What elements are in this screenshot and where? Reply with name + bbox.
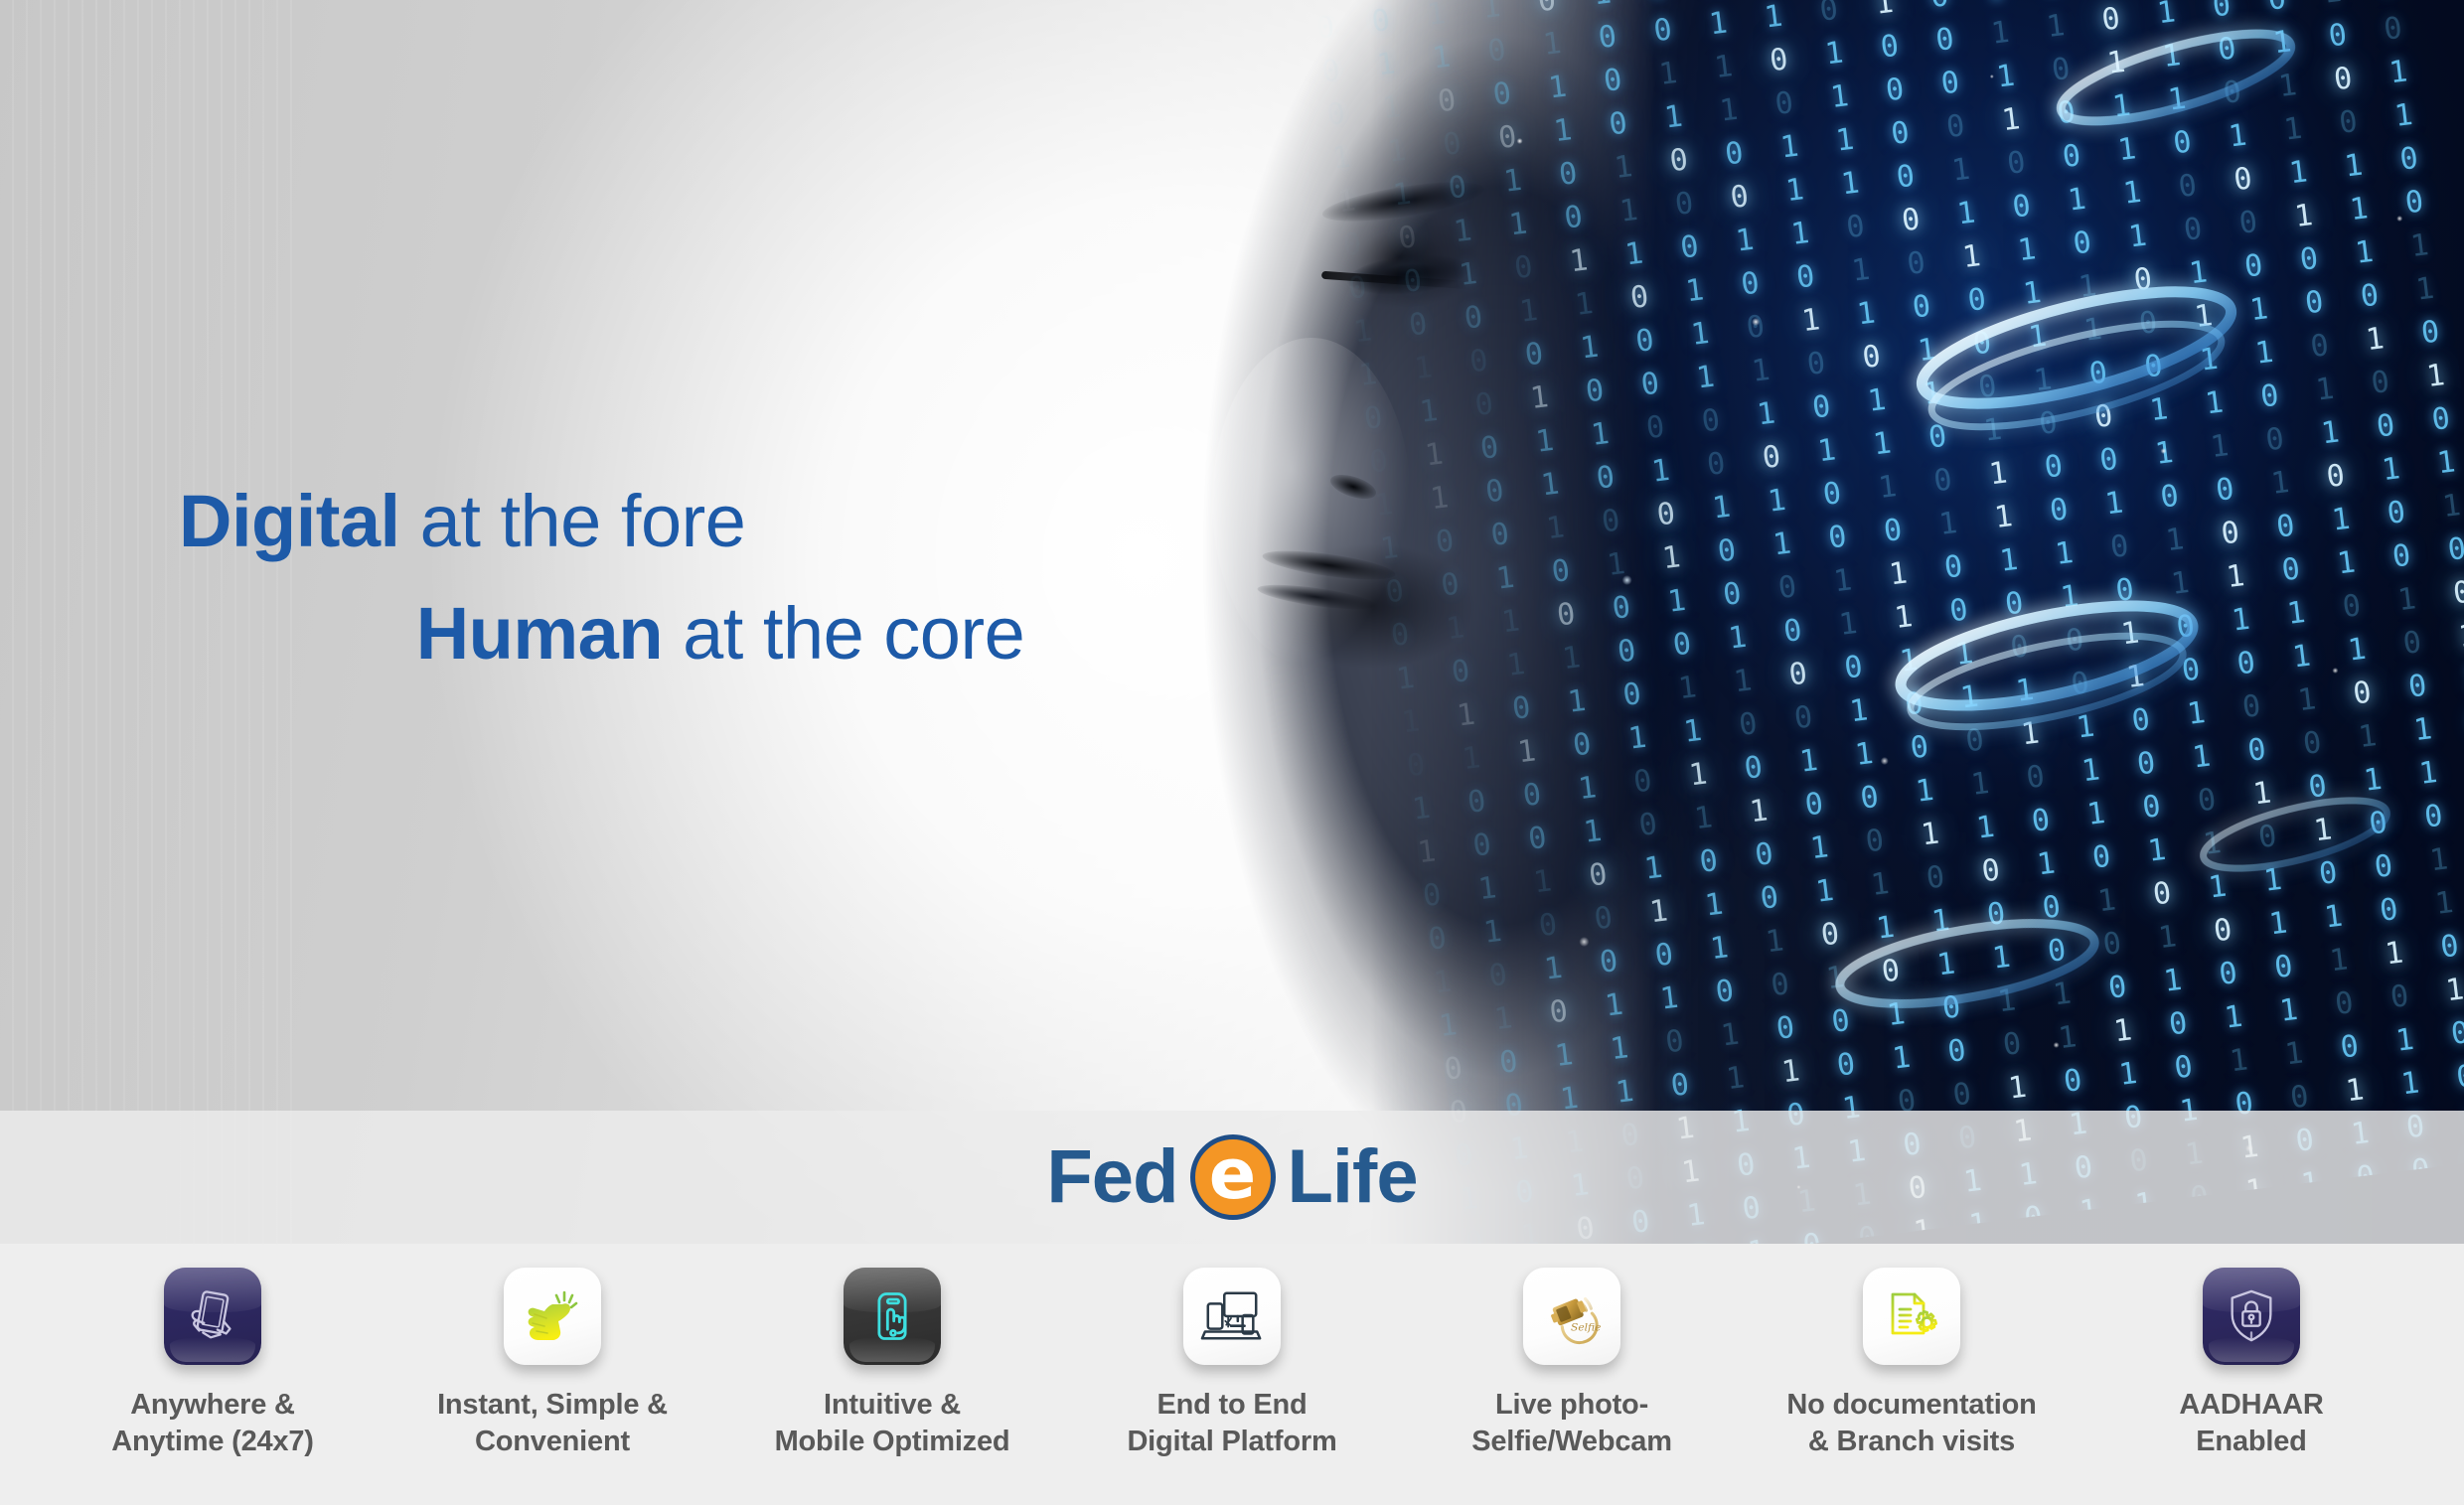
feature-label-live-photo: Live photo-Selfie/Webcam xyxy=(1471,1387,1672,1460)
feature-item-aadhaar[interactable]: AADHAAREnabled xyxy=(2090,1268,2412,1460)
document-gear-icon xyxy=(1863,1268,1960,1365)
multi-device-platform-icon xyxy=(1183,1268,1281,1365)
feature-label-anywhere-anytime: Anywhere &Anytime (24x7) xyxy=(111,1387,314,1460)
feature-label-no-documentation: No documentation& Branch visits xyxy=(1786,1387,2036,1460)
logo-band: Fed e Life xyxy=(0,1111,2464,1244)
headline-rest-2: at the core xyxy=(663,592,1024,675)
svg-text:Selfie: Selfie xyxy=(1571,1321,1601,1334)
logo-text-fed: Fed xyxy=(1046,1139,1177,1215)
hero-headline: Digital at the fore Human at the core xyxy=(179,475,1172,679)
logo-text-life: Life xyxy=(1288,1139,1418,1215)
feature-item-no-documentation[interactable]: No documentation& Branch visits xyxy=(1751,1268,2073,1460)
selfie-camera-icon: Selfie xyxy=(1523,1268,1620,1365)
hero-section: 1 0 1 0 0 1 1 0 1 0 0 1 0 1 1 0 0 1 0 1 … xyxy=(0,0,2464,1244)
feature-label-end-to-end: End to EndDigital Platform xyxy=(1127,1387,1336,1460)
light-particles xyxy=(1391,0,2464,1244)
hand-holding-phone-icon xyxy=(164,1268,261,1365)
headline-rest-1: at the fore xyxy=(400,480,746,562)
touch-gesture-mobile-icon xyxy=(844,1268,941,1365)
fedelife-logo[interactable]: Fed e Life xyxy=(1046,1134,1417,1220)
feature-item-anywhere-anytime[interactable]: Anywhere &Anytime (24x7) xyxy=(52,1268,374,1460)
feature-label-instant-simple: Instant, Simple &Convenient xyxy=(437,1387,668,1460)
headline-emphasis-human: Human xyxy=(416,592,663,675)
logo-emblem-letter: e xyxy=(1209,1139,1256,1209)
feature-item-intuitive-mobile[interactable]: Intuitive &Mobile Optimized xyxy=(731,1268,1053,1460)
feature-item-live-photo[interactable]: Selfie Live photo-Selfie/Webcam xyxy=(1411,1268,1733,1460)
snapping-fingers-icon xyxy=(504,1268,601,1365)
feature-item-instant-simple[interactable]: Instant, Simple &Convenient xyxy=(391,1268,713,1460)
feature-strip: Anywhere &Anytime (24x7) xyxy=(0,1244,2464,1505)
logo-e-emblem-icon: e xyxy=(1190,1134,1276,1220)
shield-lock-icon xyxy=(2203,1268,2300,1365)
feature-label-aadhaar: AADHAAREnabled xyxy=(2179,1387,2323,1460)
headline-line-1: Digital at the fore xyxy=(179,475,1172,567)
headline-line-2: Human at the core xyxy=(179,587,1172,679)
headline-emphasis-digital: Digital xyxy=(179,480,400,562)
hero-face-image: 1 0 1 0 0 1 1 0 1 0 0 1 0 1 1 0 0 1 0 1 … xyxy=(1073,0,2464,1244)
fedelife-promo-banner: 1 0 1 0 0 1 1 0 1 0 0 1 0 1 1 0 0 1 0 1 … xyxy=(0,0,2464,1505)
feature-label-intuitive-mobile: Intuitive &Mobile Optimized xyxy=(775,1387,1010,1460)
feature-item-end-to-end[interactable]: End to EndDigital Platform xyxy=(1071,1268,1393,1460)
